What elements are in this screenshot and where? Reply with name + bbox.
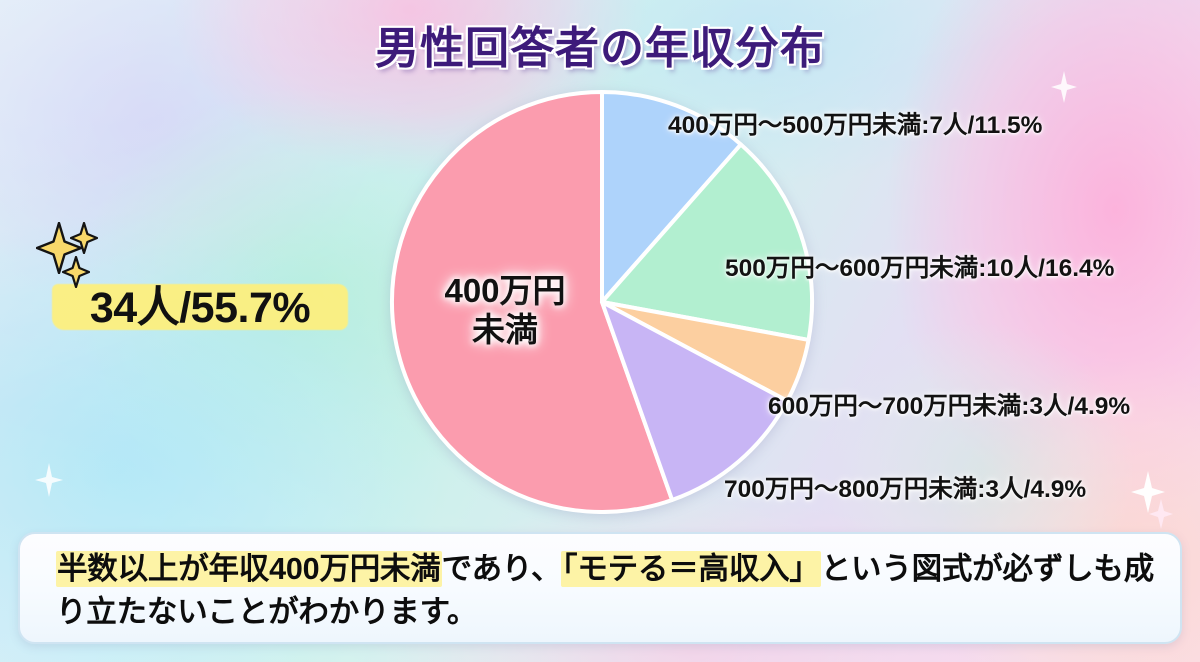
callout-700-800: 700万円～800万円未満:3人/4.9% (724, 470, 1086, 505)
summary-highlight-span: 半数以上が年収400万円未満 (56, 551, 442, 587)
sparkle-icon (62, 256, 90, 288)
summary-highlight-span: 「モテる＝高収入」 (561, 551, 820, 587)
sparkle-icon (34, 462, 64, 498)
infographic-canvas: 男性回答者の年収分布 400万円 未満 400万円～500万円未満:7人/11.… (0, 0, 1200, 662)
summary-plain-span: であり、 (442, 552, 562, 586)
summary-text: 半数以上が年収400万円未満であり、「モテる＝高収入」という図式が必ずしも成り立… (56, 548, 1176, 634)
callout-500-600: 500万円～600万円未満:10人/16.4% (725, 249, 1114, 284)
callout-600-700: 600万円～700万円未満:3人/4.9% (768, 387, 1130, 422)
pie-slice-label-under-4m: 400万円 未満 (405, 272, 605, 350)
pie-slice-label-line1: 400万円 (405, 272, 605, 311)
sparkle-icon (70, 222, 98, 254)
page-title: 男性回答者の年収分布 (0, 12, 1200, 76)
callout-400-500: 400万円～500万円未満:7人/11.5% (668, 106, 1042, 141)
sparkle-icon (1050, 70, 1078, 104)
sparkle-icon (1148, 498, 1174, 530)
summary-card: 半数以上が年収400万円未満であり、「モテる＝高収入」という図式が必ずしも成り立… (18, 532, 1182, 644)
pie-slice-label-line2: 未満 (405, 311, 605, 350)
